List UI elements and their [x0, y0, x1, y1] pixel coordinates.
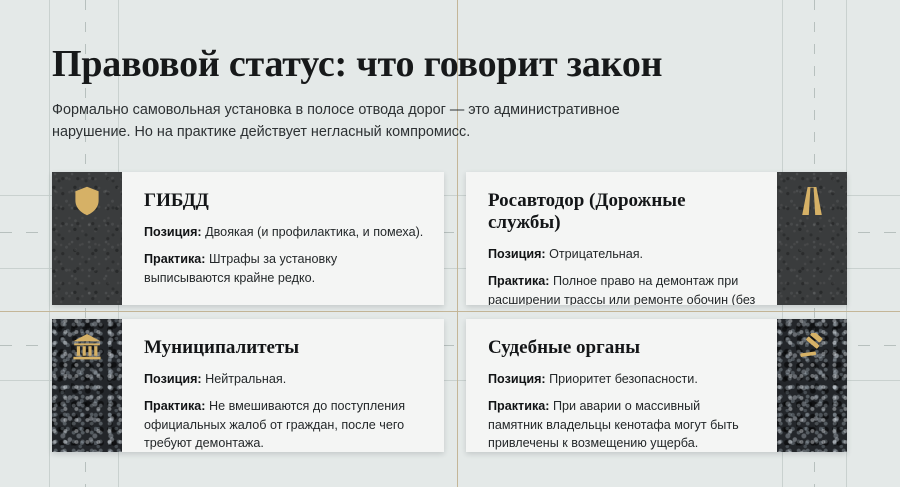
- road-edge-line-left-outer: [49, 0, 50, 487]
- card-courts-practice: Практика: При аварии о массивный памятни…: [488, 397, 757, 452]
- card-rosavtodor-position: Позиция: Отрицательная.: [488, 245, 757, 264]
- page-subtitle: Формально самовольная установка в полосе…: [52, 100, 677, 144]
- card-municipalities-position: Позиция: Нейтральная.: [144, 370, 424, 389]
- card-gibdd-title: ГИБДД: [144, 190, 424, 212]
- card-municipalities-icon-panel: [52, 319, 122, 452]
- label-practice: Практика:: [144, 399, 205, 413]
- card-gibdd-practice: Практика: Штрафы за установку выписывают…: [144, 250, 424, 287]
- accent-rule-horizontal: [0, 311, 900, 312]
- label-position: Позиция:: [488, 372, 546, 386]
- label-position: Позиция:: [144, 372, 202, 386]
- label-practice: Практика:: [488, 399, 549, 413]
- card-gibdd-position-value: Двоякая (и профилактика, и помеха).: [205, 225, 423, 239]
- card-gibdd-body: ГИБДД Позиция: Двоякая (и профилактика, …: [122, 172, 444, 305]
- card-gibdd-icon-panel: [52, 172, 122, 305]
- slide-root: Правовой статус: что говорит закон Форма…: [0, 0, 900, 487]
- card-rosavtodor-body: Росавтодор (Дорожные службы) Позиция: От…: [466, 172, 777, 305]
- shield-icon: [74, 186, 100, 216]
- card-rosavtodor-title: Росавтодор (Дорожные службы): [488, 190, 757, 234]
- card-courts-title: Судебные органы: [488, 337, 757, 359]
- header-block: Правовой статус: что говорит закон Форма…: [52, 44, 692, 144]
- card-municipalities[interactable]: Муниципалитеты Позиция: Нейтральная. Пра…: [52, 319, 444, 452]
- card-rosavtodor[interactable]: Росавтодор (Дорожные службы) Позиция: От…: [466, 172, 847, 305]
- card-gibdd[interactable]: ГИБДД Позиция: Двоякая (и профилактика, …: [52, 172, 444, 305]
- card-municipalities-practice: Практика: Не вмешиваются до поступления …: [144, 397, 424, 452]
- gavel-icon: [797, 333, 827, 363]
- card-rosavtodor-position-value: Отрицательная.: [549, 247, 643, 261]
- card-rosavtodor-icon-panel: [777, 172, 847, 305]
- card-courts-body: Судебные органы Позиция: Приоритет безоп…: [466, 319, 777, 452]
- bank-icon: [72, 333, 102, 361]
- card-municipalities-position-value: Нейтральная.: [205, 372, 286, 386]
- card-courts[interactable]: Судебные органы Позиция: Приоритет безоп…: [466, 319, 847, 452]
- card-municipalities-title: Муниципалитеты: [144, 337, 424, 359]
- card-courts-position: Позиция: Приоритет безопасности.: [488, 370, 757, 389]
- label-position: Позиция:: [144, 225, 202, 239]
- label-position: Позиция:: [488, 247, 546, 261]
- page-title: Правовой статус: что говорит закон: [52, 44, 692, 86]
- label-practice: Практика:: [488, 274, 549, 288]
- card-rosavtodor-practice: Практика: Полное право на демонтаж при р…: [488, 272, 757, 305]
- card-municipalities-body: Муниципалитеты Позиция: Нейтральная. Пра…: [122, 319, 444, 452]
- card-courts-position-value: Приоритет безопасности.: [549, 372, 698, 386]
- card-courts-icon-panel: [777, 319, 847, 452]
- card-gibdd-position: Позиция: Двоякая (и профилактика, и поме…: [144, 223, 424, 242]
- label-practice: Практика:: [144, 252, 205, 266]
- road-icon: [798, 186, 826, 216]
